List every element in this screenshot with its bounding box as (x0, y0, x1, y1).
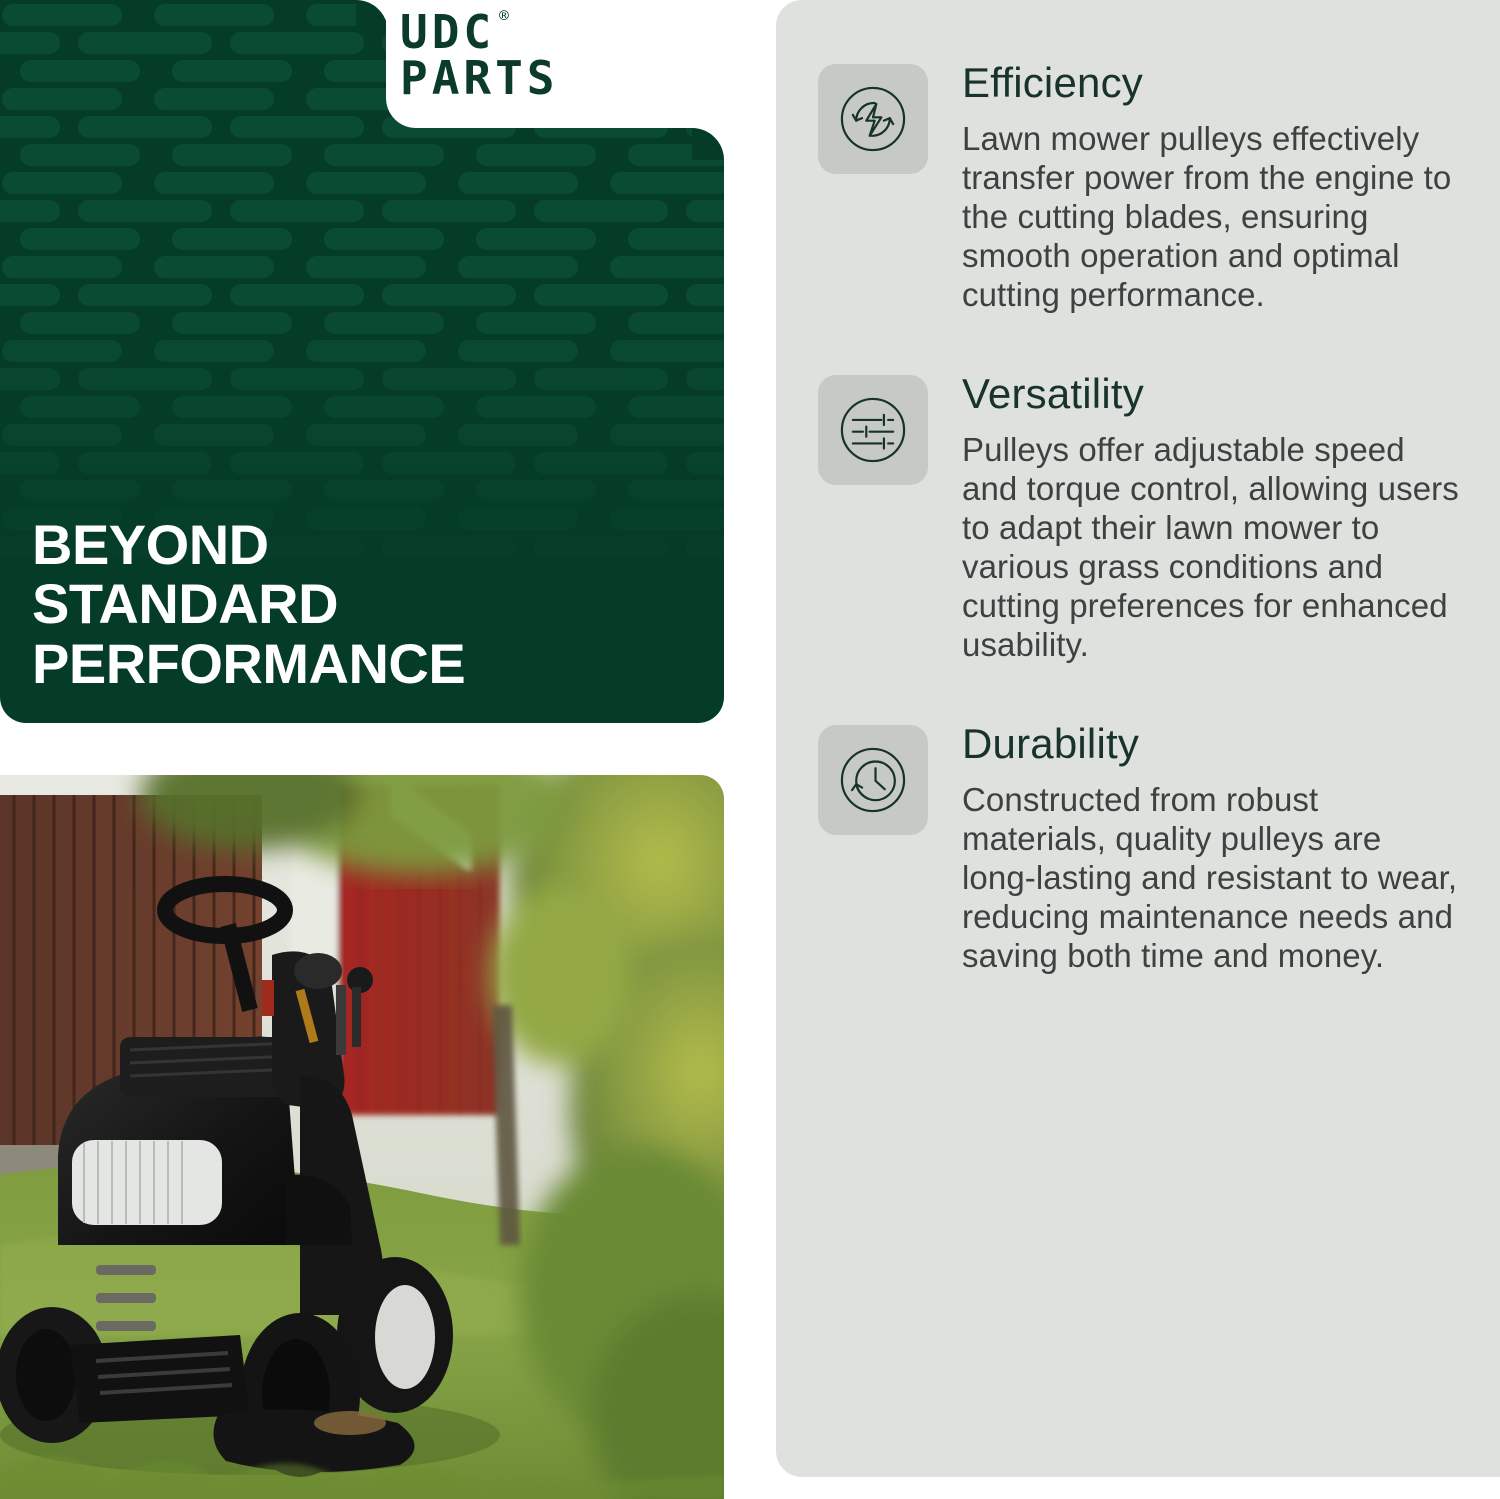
durability-title: Durability (962, 721, 1464, 767)
versatility-title: Versatility (962, 371, 1464, 417)
features-panel: Efficiency Lawn mower pulleys effectivel… (776, 0, 1500, 1477)
feature-card-versatility: Versatility Pulleys offer adjustable spe… (818, 371, 1464, 665)
efficiency-title: Efficiency (962, 60, 1464, 106)
hero-notch-corner-left (356, 0, 388, 32)
versatility-text-block: Versatility Pulleys offer adjustable spe… (962, 371, 1464, 665)
efficiency-description: Lawn mower pulleys effectively transfer … (962, 120, 1462, 315)
versatility-sliders-icon (831, 388, 915, 472)
versatility-icon-tile (818, 375, 928, 485)
efficiency-text-block: Efficiency Lawn mower pulleys effectivel… (962, 60, 1464, 315)
versatility-description: Pulleys offer adjustable speed and torqu… (962, 431, 1462, 665)
hero-notch-corner-right (692, 128, 724, 160)
lawn-mower-photo (0, 775, 724, 1499)
durability-icon-tile (818, 725, 928, 835)
feature-card-durability: Durability Constructed from robust mater… (818, 721, 1464, 976)
durability-text-block: Durability Constructed from robust mater… (962, 721, 1464, 976)
hero-headline-line-2: STANDARD (32, 574, 465, 633)
durability-clock-history-icon (831, 738, 915, 822)
feature-card-efficiency: Efficiency Lawn mower pulleys effectivel… (818, 60, 1464, 315)
hero-headline-line-1: BEYOND (32, 515, 465, 574)
durability-description: Constructed from robust materials, quali… (962, 781, 1462, 976)
registered-trademark-icon: ® (499, 8, 513, 23)
brand-logo-line-2: PARTS (400, 56, 558, 100)
hero-headline-line-3: PERFORMANCE (32, 634, 465, 693)
brand-logo-line-1: UDC® (400, 10, 558, 54)
lawn-mower-photo-image (0, 775, 724, 1499)
hero-headline: BEYOND STANDARD PERFORMANCE (32, 515, 465, 693)
efficiency-bolt-cycle-icon (831, 77, 915, 161)
product-feature-infographic: BEYOND STANDARD PERFORMANCE UDC® PARTS (0, 0, 1500, 1499)
left-column: BEYOND STANDARD PERFORMANCE UDC® PARTS (0, 0, 724, 1499)
efficiency-icon-tile (818, 64, 928, 174)
brand-logo: UDC® PARTS (400, 10, 558, 100)
